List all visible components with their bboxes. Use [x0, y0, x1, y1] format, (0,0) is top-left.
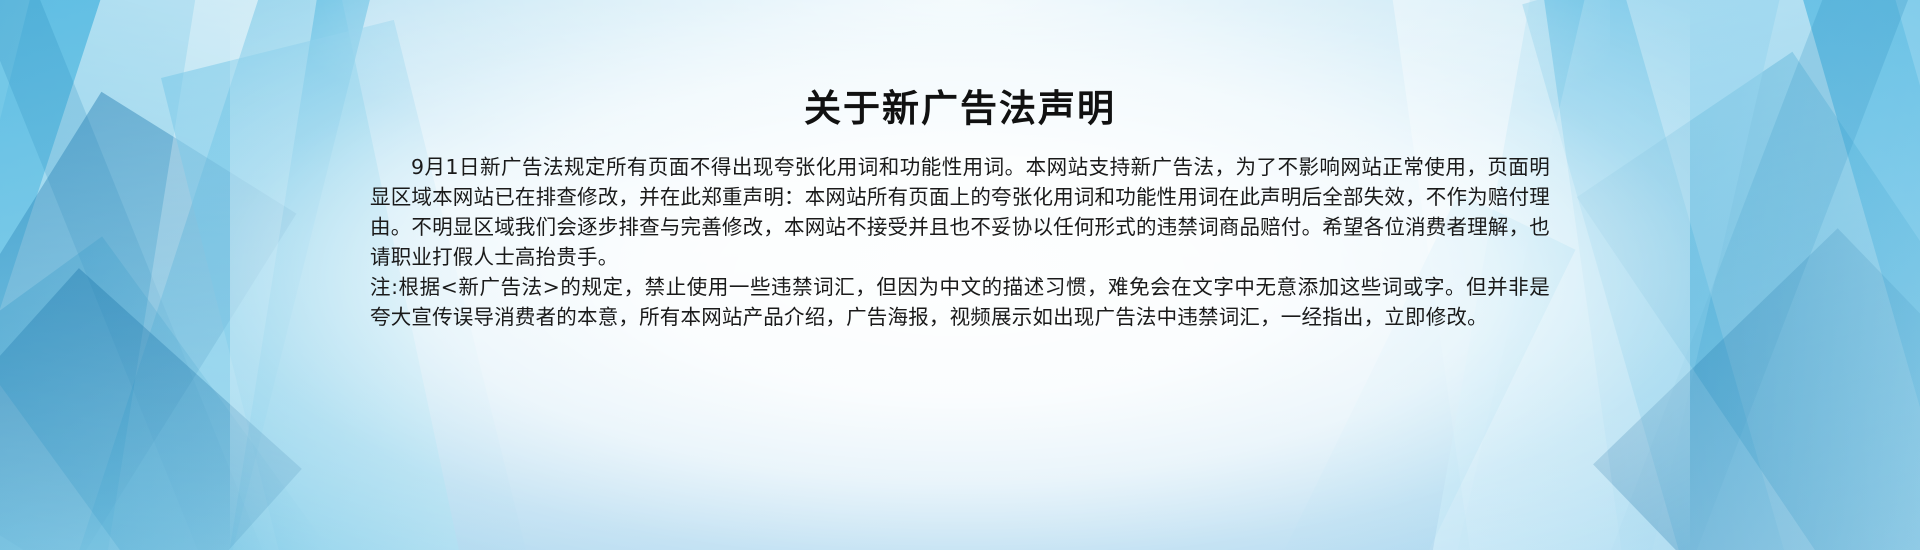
background-wash-left-mid — [0, 0, 392, 550]
background-shard-6 — [0, 268, 302, 550]
background-shard-10 — [1577, 52, 1920, 550]
background-shard-9 — [1591, 0, 1909, 550]
announcement-banner: 关于新广告法声明 9月1日新广告法规定所有页面不得出现夸张化用词和功能性用词。本… — [0, 0, 1920, 550]
statement-paragraph-1: 9月1日新广告法规定所有页面不得出现夸张化用词和功能性用词。本网站支持新广告法，… — [370, 152, 1550, 272]
background-shard-7 — [0, 236, 325, 550]
background-shard-8 — [1614, 0, 1920, 550]
statement-content: 关于新广告法声明 9月1日新广告法规定所有页面不得出现夸张化用词和功能性用词。本… — [370, 0, 1550, 550]
background-wash-right-mid — [1522, 0, 1920, 550]
background-shard-2 — [0, 0, 276, 550]
background-shard-1 — [0, 0, 264, 550]
page-title: 关于新广告法声明 — [370, 86, 1550, 132]
statement-body: 9月1日新广告法规定所有页面不得出现夸张化用词和功能性用词。本网站支持新广告法，… — [370, 152, 1550, 332]
background-shard-12 — [1593, 228, 1920, 550]
statement-paragraph-2: 注:根据<新广告法>的规定，禁止使用一些违禁词汇，但因为中文的描述习惯，难免会在… — [370, 272, 1550, 332]
background-shard-4 — [90, 0, 331, 550]
background-shard-3 — [0, 92, 296, 550]
